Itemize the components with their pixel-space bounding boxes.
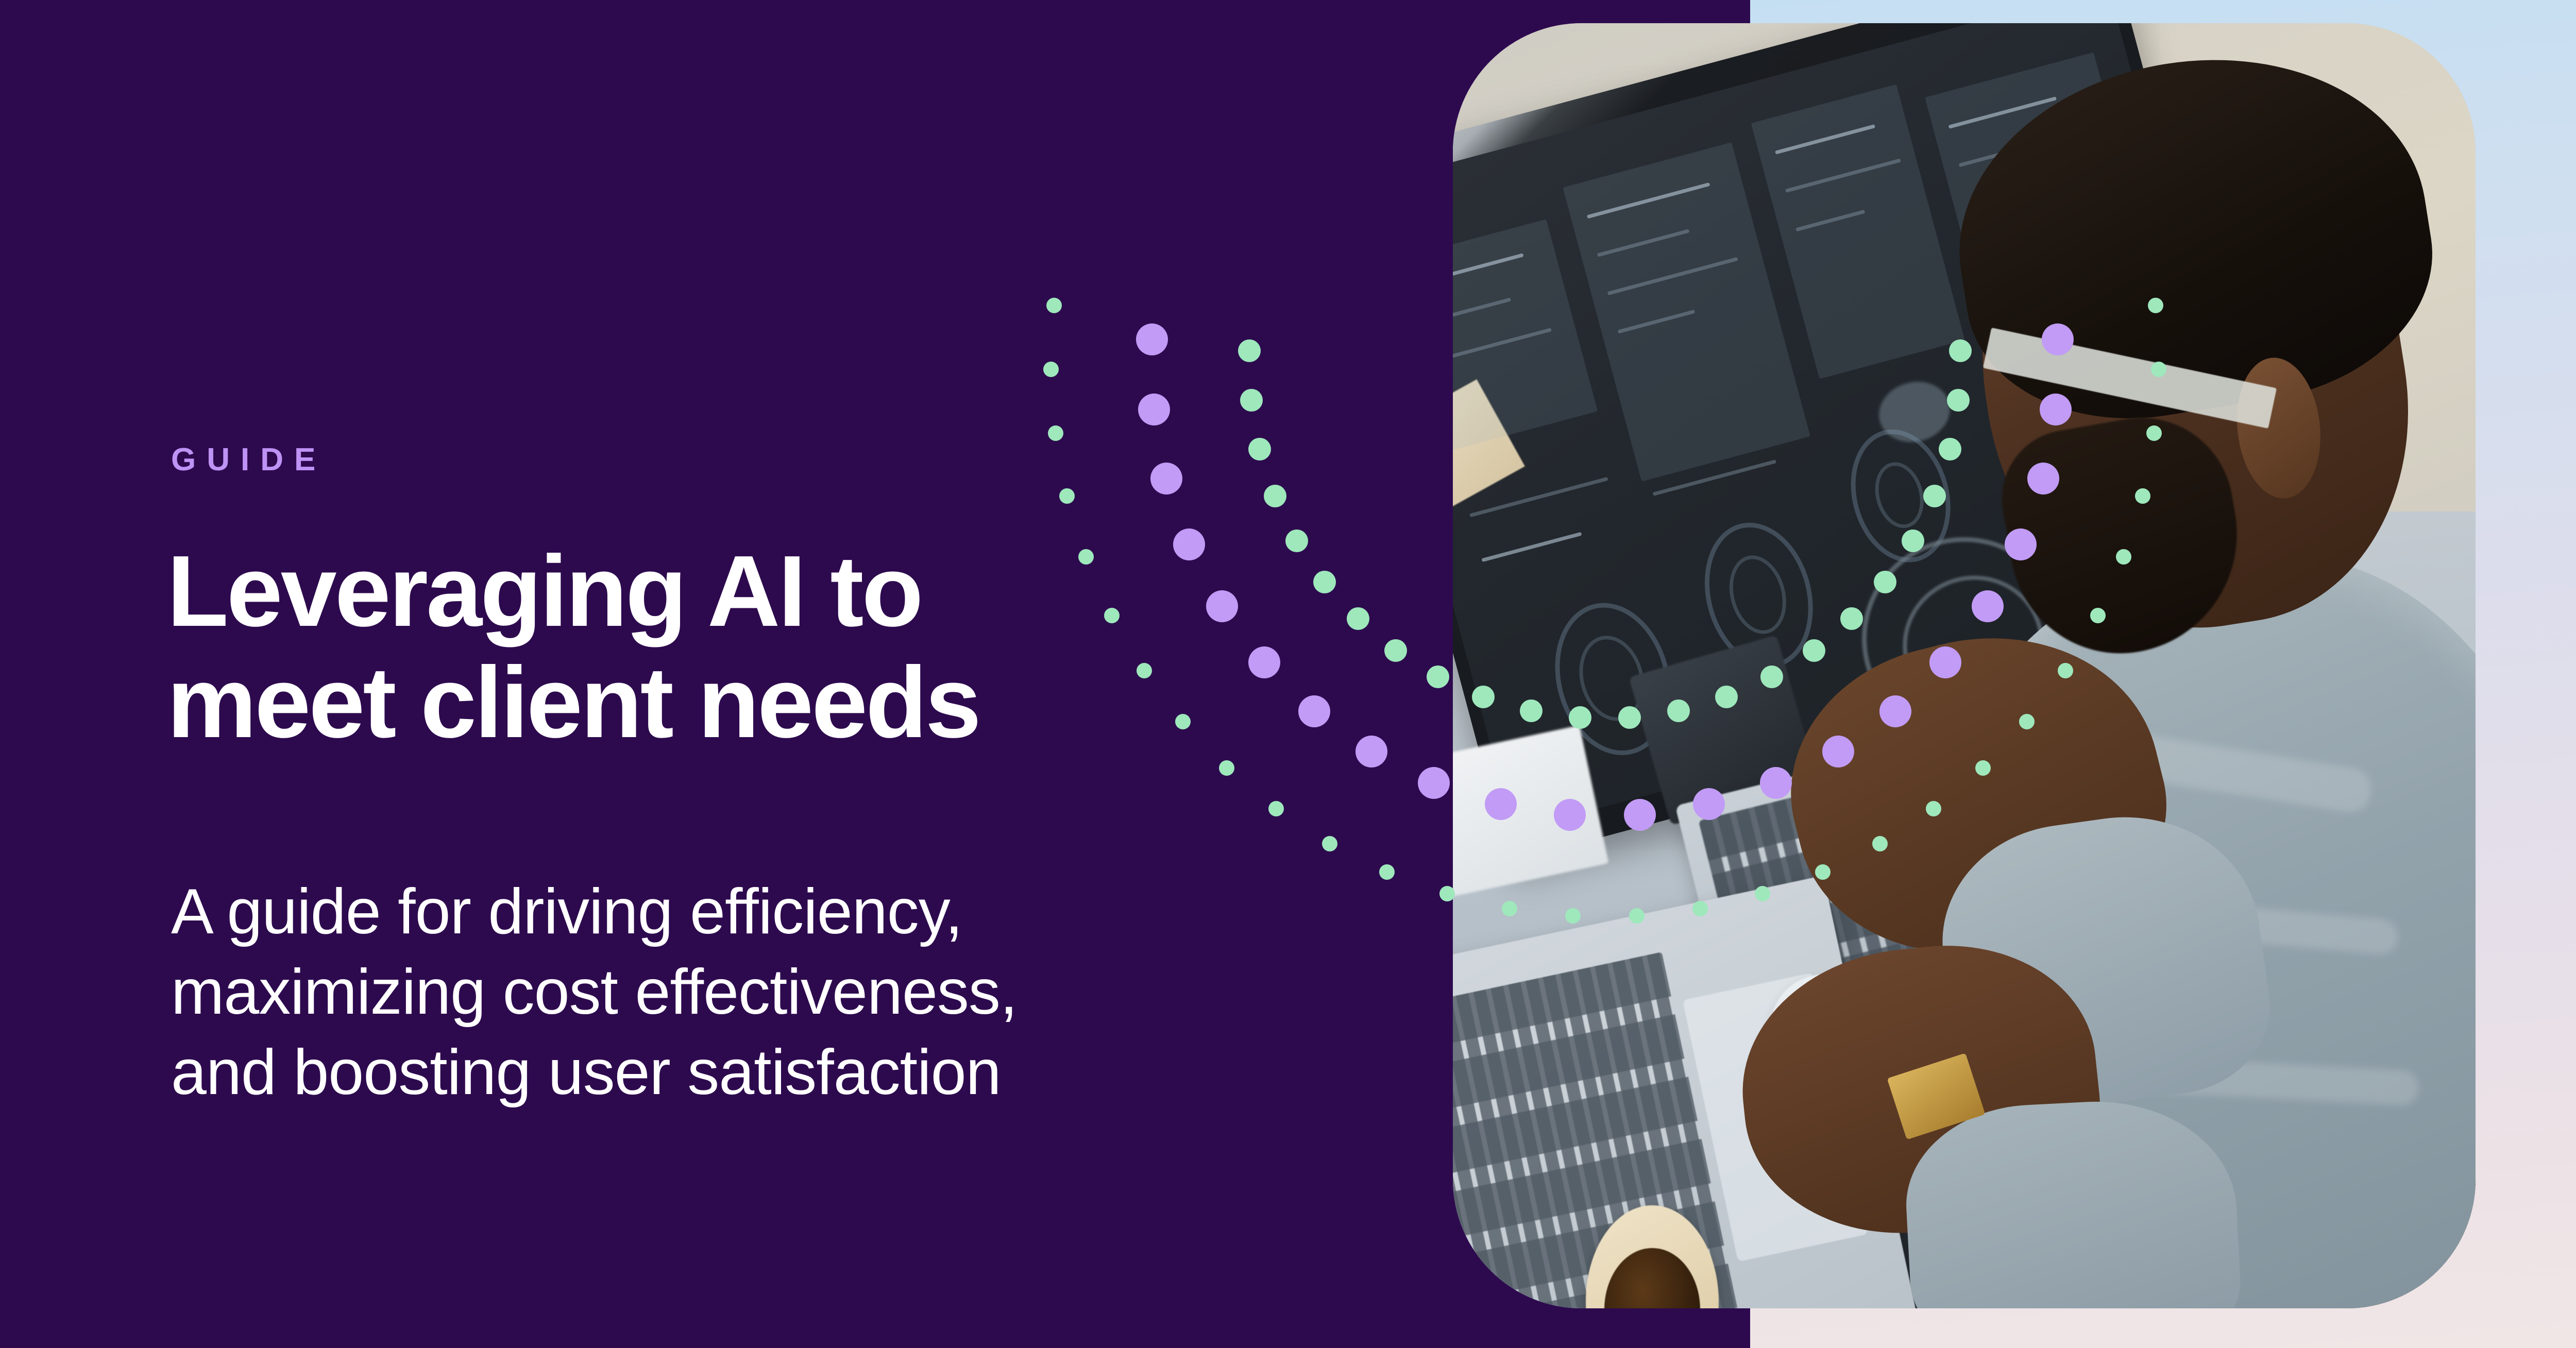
subtitle-line-3: and boosting user satisfaction — [171, 1032, 1408, 1113]
office-photo — [1453, 23, 2476, 1308]
poster-canvas: GUIDE Leveraging AI to meet client needs… — [0, 0, 2576, 1348]
hero-photo-card — [1453, 23, 2476, 1308]
page-title: Leveraging AI to meet client needs — [167, 536, 1378, 758]
text-column: GUIDE Leveraging AI to meet client needs… — [171, 0, 1408, 1348]
coffee-liquid — [1604, 1248, 1700, 1308]
subtitle-line-2: maximizing cost effectiveness, — [171, 952, 1408, 1032]
page-subtitle: A guide for driving efficiency, maximizi… — [171, 872, 1408, 1113]
person — [1883, 49, 2476, 1308]
subtitle-line-1: A guide for driving efficiency, — [171, 872, 1408, 952]
headline-line-1: Leveraging AI to — [167, 536, 1378, 647]
headline-line-2: meet client needs — [167, 647, 1378, 758]
eyebrow-label: GUIDE — [171, 444, 326, 476]
